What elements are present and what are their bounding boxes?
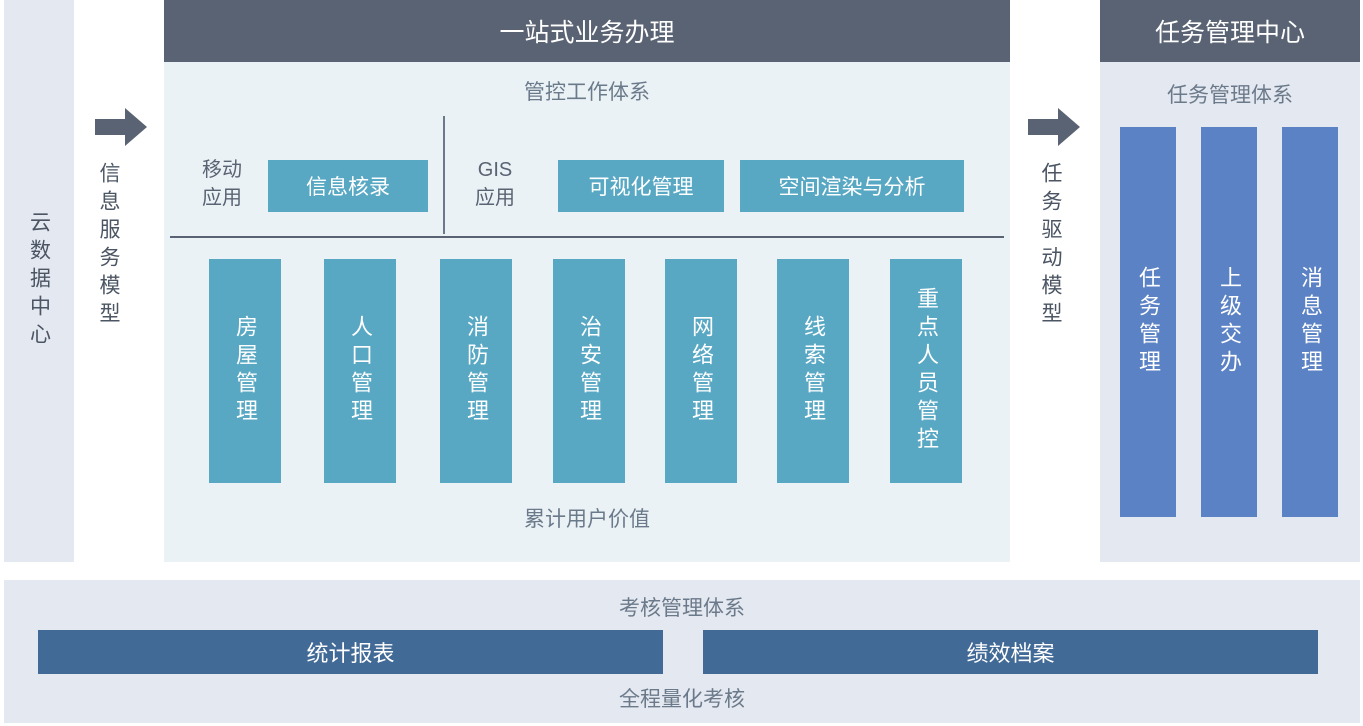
performance-archive-button[interactable]: 绩效档案 (703, 630, 1318, 674)
pillar-task-management[interactable]: 任务管理 (1120, 127, 1176, 517)
pillar-message-management[interactable]: 消息管理 (1282, 127, 1338, 517)
pillar-superior-assignment[interactable]: 上级交办 (1201, 127, 1257, 517)
information-service-model-label: 信息服务模型 (98, 162, 119, 330)
group-divider (443, 116, 445, 234)
statistical-report-button[interactable]: 统计报表 (38, 630, 663, 674)
visual-management-button[interactable]: 可视化管理 (558, 160, 724, 212)
right-arrow-icon (95, 108, 147, 151)
right-arrow-icon-2 (1028, 108, 1080, 151)
task-panel-subtitle: 任务管理体系 (1100, 79, 1360, 109)
gis-application-group-label: GIS 应用 (461, 156, 529, 212)
spatial-rendering-analysis-button[interactable]: 空间渲染与分析 (740, 160, 964, 212)
pillar-clue-management[interactable]: 线索管理 (777, 259, 849, 483)
cloud-data-center-column: 云数据中心 (4, 0, 74, 562)
pillar-key-personnel-control[interactable]: 重点人员管控 (890, 259, 962, 483)
main-panel-footer: 累计用户价值 (164, 503, 1010, 533)
section-divider (170, 236, 1004, 238)
assessment-bar-title: 考核管理体系 (4, 592, 1360, 622)
assessment-bar-footer: 全程量化考核 (4, 683, 1360, 713)
pillar-public-security-management[interactable]: 治安管理 (553, 259, 625, 483)
pillar-network-management[interactable]: 网络管理 (665, 259, 737, 483)
cloud-data-center-label: 云数据中心 (29, 211, 50, 351)
main-panel-subtitle: 管控工作体系 (164, 76, 1010, 106)
pillar-fire-management[interactable]: 消防管理 (440, 259, 512, 483)
pillar-population-management[interactable]: 人口管理 (324, 259, 396, 483)
one-stop-service-panel: 一站式业务办理 管控工作体系 移动 应用 信息核录 GIS 应用 可视化管理 空… (164, 0, 1010, 562)
mobile-application-group-label: 移动 应用 (188, 156, 256, 212)
main-panel-header: 一站式业务办理 (164, 0, 1010, 62)
pillar-housing-management[interactable]: 房屋管理 (209, 259, 281, 483)
task-driven-model-label: 任务驱动模型 (1040, 162, 1061, 330)
info-entry-button[interactable]: 信息核录 (268, 160, 428, 212)
architecture-diagram: 云数据中心 信息服务模型 一站式业务办理 管控工作体系 移动 应用 信息核录 G… (0, 0, 1363, 726)
assessment-management-bar: 考核管理体系 统计报表 绩效档案 全程量化考核 (4, 580, 1360, 723)
task-panel-header: 任务管理中心 (1100, 0, 1360, 62)
task-management-center-panel: 任务管理中心 任务管理体系 任务管理 上级交办 消息管理 (1100, 0, 1360, 562)
